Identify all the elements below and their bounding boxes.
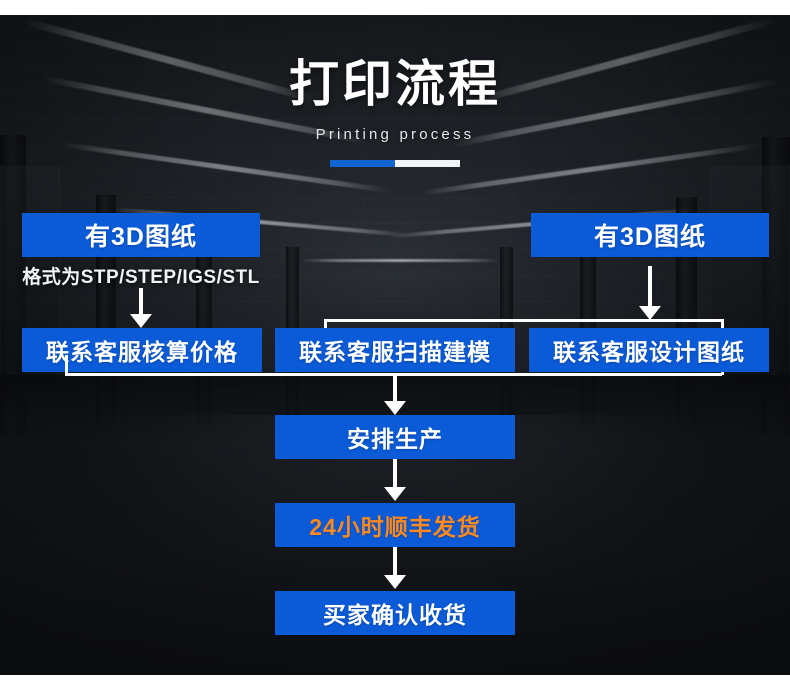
bracket-top-horizontal: [324, 319, 724, 322]
top-white-strip: [0, 0, 790, 15]
flow-node-ship-24h[interactable]: 24小时顺丰发货: [275, 503, 515, 547]
connector-line-to-confirm: [393, 547, 397, 577]
flowchart-banner: 打印流程 Printing process 有3D图纸 有3D图纸 格式为STP…: [0, 0, 790, 696]
connector-line-right-head: [648, 266, 652, 308]
connector-line-to-shipping: [393, 459, 397, 489]
arrow-head-to-shipping: [384, 487, 406, 501]
flow-node-arrange-production[interactable]: 安排生产: [275, 415, 515, 459]
arrow-head-to-confirm: [384, 575, 406, 589]
connector-line-to-production: [393, 373, 397, 403]
flow-node-have-3d-left[interactable]: 有3D图纸: [22, 213, 260, 257]
flow-node-contact-quote[interactable]: 联系客服核算价格: [22, 328, 262, 372]
flow-node-contact-scan[interactable]: 联系客服扫描建模: [275, 328, 515, 372]
arrow-head-to-production: [384, 401, 406, 415]
flow-node-have-3d-right[interactable]: 有3D图纸: [531, 213, 769, 257]
bottom-white-strip: [0, 675, 790, 696]
flow-node-contact-design[interactable]: 联系客服设计图纸: [529, 328, 769, 372]
bracket-bottom-left-vertical: [65, 355, 68, 375]
flow-node-buyer-confirm[interactable]: 买家确认收货: [275, 591, 515, 635]
connector-line-left-head: [139, 288, 143, 316]
format-note-caption: 格式为STP/STEP/IGS/STL: [22, 262, 260, 289]
arrow-head-right-head: [639, 306, 661, 320]
arrow-head-left-head: [130, 314, 152, 328]
process-flow-diagram: 有3D图纸 有3D图纸 格式为STP/STEP/IGS/STL 联系客服核算价格…: [0, 0, 790, 696]
